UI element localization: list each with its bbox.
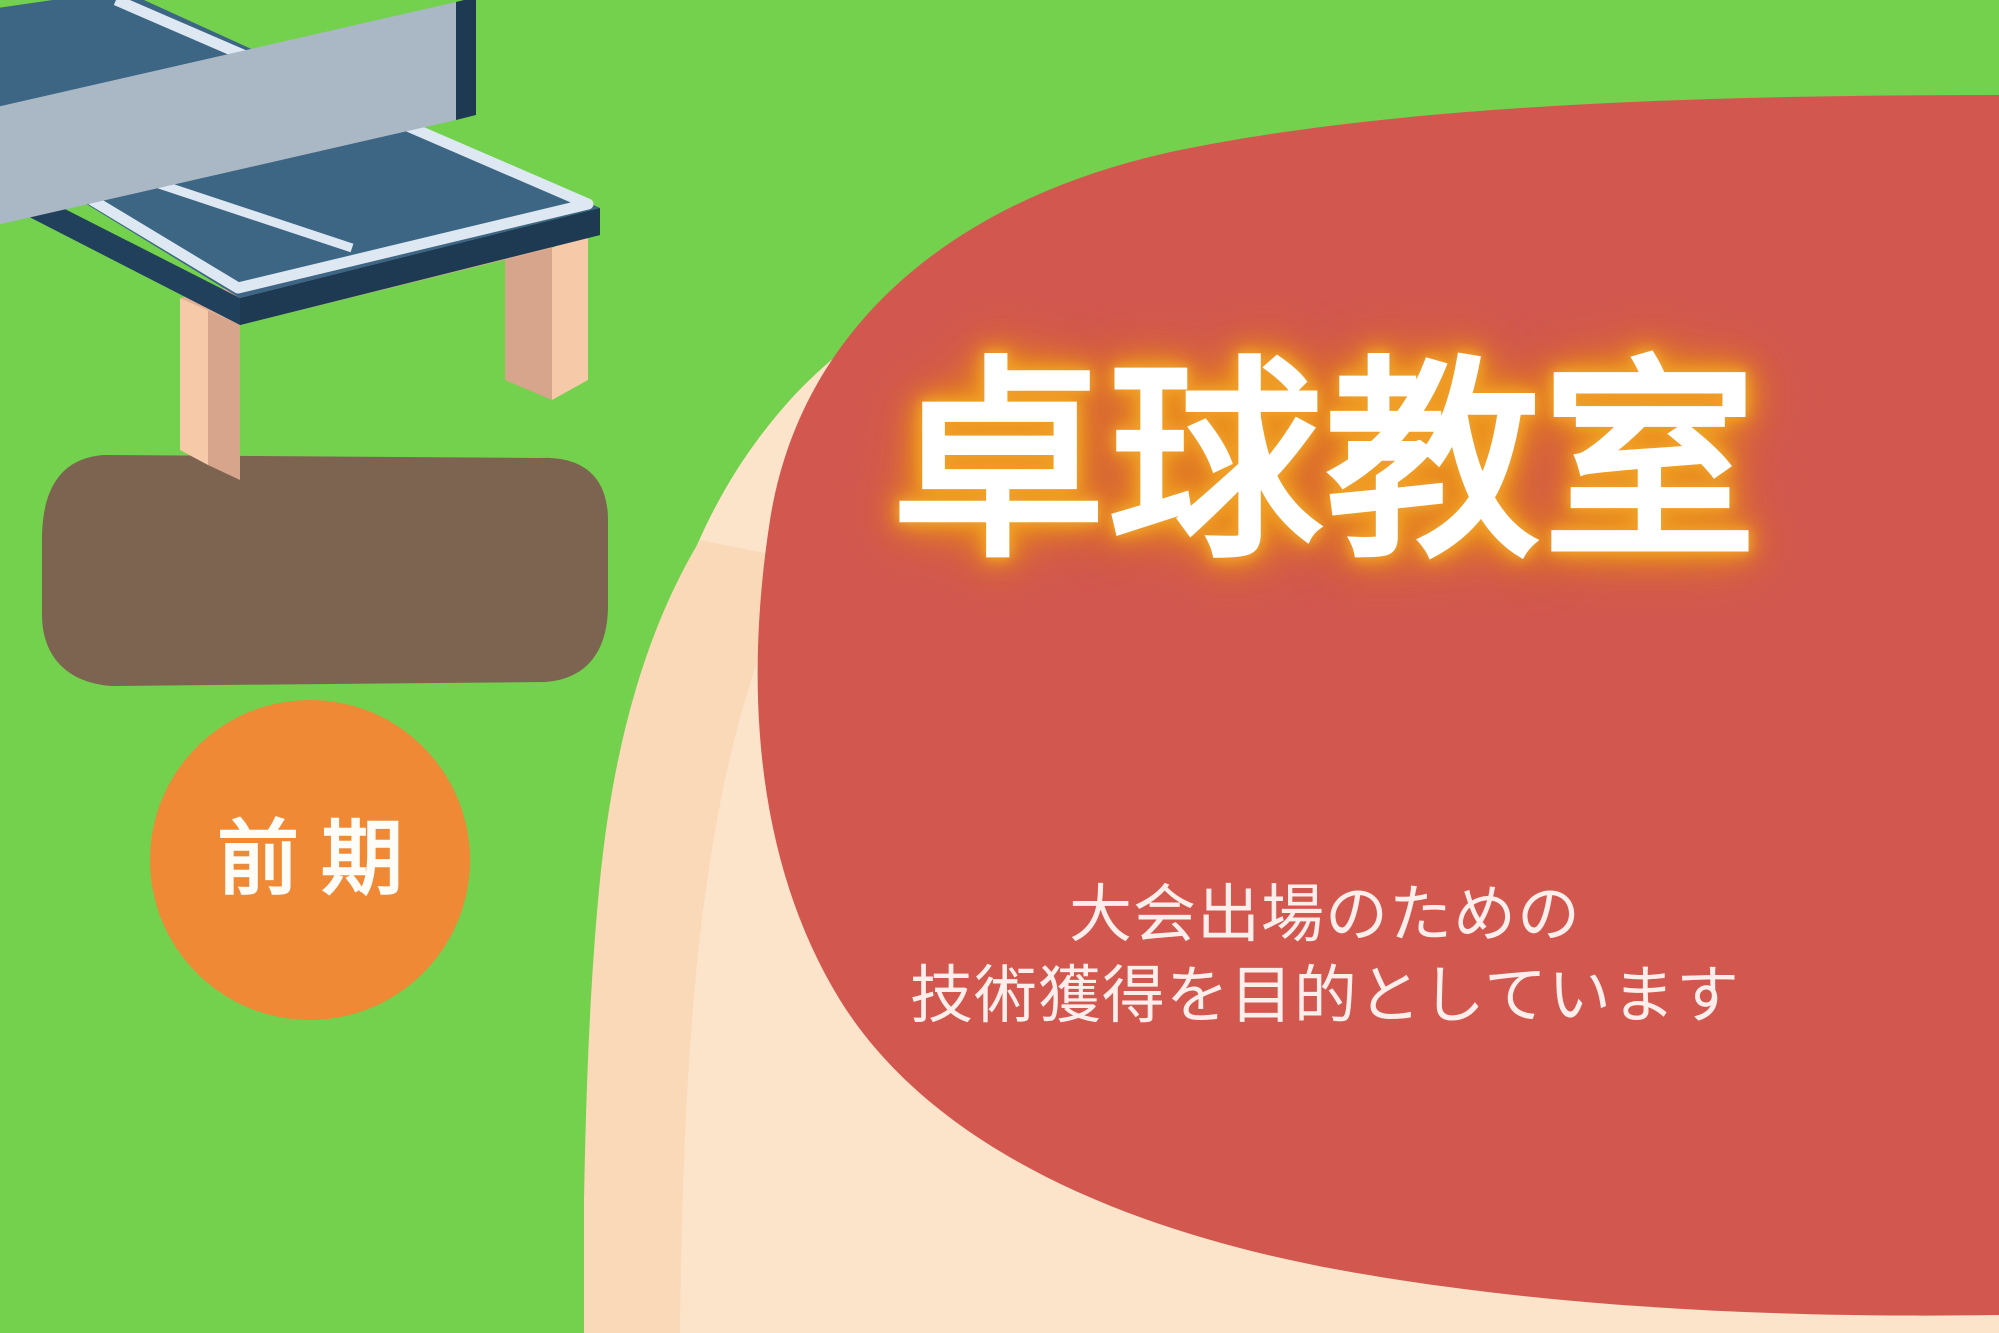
term-badge: 前期 bbox=[150, 700, 470, 1020]
term-badge-label: 前期 bbox=[195, 819, 425, 901]
poster-canvas: 卓球教室 大会出場のための 技術獲得を目的としています 前期 bbox=[0, 0, 1999, 1333]
ping-pong-table-icon bbox=[0, 0, 700, 740]
